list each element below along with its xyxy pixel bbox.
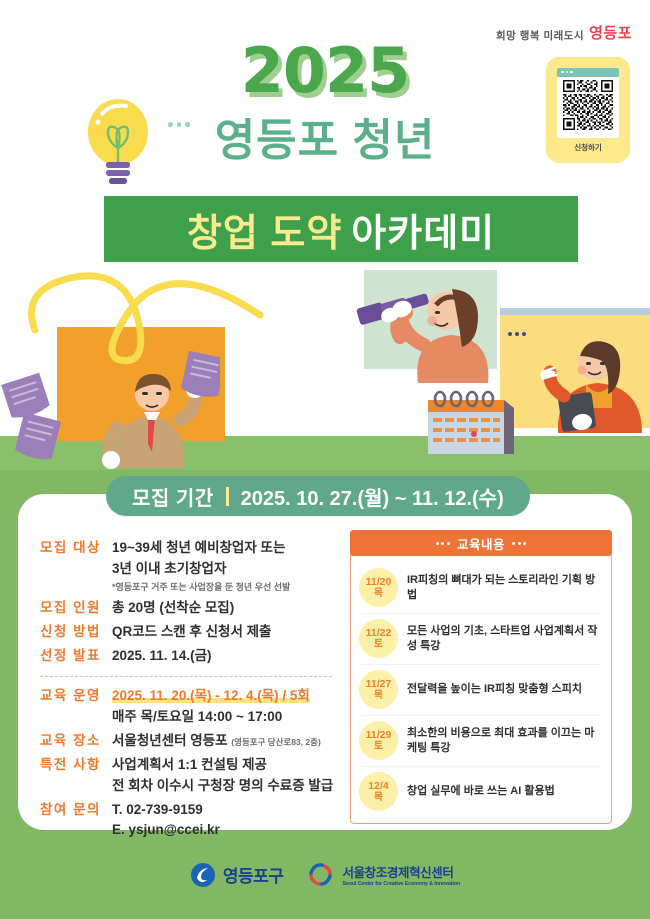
- badge-date: 12/4: [368, 780, 388, 792]
- ccei-pinwheel-icon: [309, 862, 335, 888]
- badge-day: 목: [374, 792, 383, 804]
- info-row-schedule: 교육 운영 2025. 11. 20.(목) - 12. 4.(목) / 5회 …: [40, 686, 340, 728]
- footer-logo-texts: 서울창조경제혁신센터 Seoul Center for Creative Eco…: [342, 862, 460, 887]
- badge-date: 11/27: [366, 678, 392, 690]
- content-card: 모집 기간 2025. 10. 27.(월) ~ 11. 12.(수) 모집 대…: [18, 494, 632, 830]
- curriculum-panel: 교육내용 11/20 목 IR피칭의 뼈대가 되는 스토리라인 기획 방법 11…: [350, 530, 612, 824]
- info-label: 신청 방법: [40, 622, 112, 643]
- info-label: 모집 대상: [40, 538, 112, 595]
- info-label: 특전 사항: [40, 755, 112, 797]
- curriculum-text: 최소한의 비용으로 최대 효과를 이끄는 마케팅 특강: [407, 726, 601, 755]
- info-values: 2025. 11. 14.(금): [112, 646, 340, 667]
- person-with-telescope-illustration: [340, 275, 500, 385]
- footer-logo-name-kr: 서울창조경제혁신센터: [342, 862, 460, 881]
- banner-text-primary: 창업 도약: [187, 202, 342, 257]
- info-label: 교육 운영: [40, 686, 112, 728]
- info-value: 19~39세 청년 예비창업자 또는: [112, 538, 340, 559]
- badge-day: 토: [374, 741, 383, 753]
- info-value: 전 회차 이수시 구청장 명의 수료증 발급: [112, 776, 340, 797]
- recruitment-period-pill: 모집 기간 2025. 10. 27.(월) ~ 11. 12.(수): [106, 476, 530, 516]
- period-label: 모집 기간: [132, 482, 214, 511]
- yeongdeungpo-emblem-icon: [190, 862, 216, 888]
- banner-text-secondary: 아카데미: [351, 202, 495, 257]
- curriculum-text: 전달력을 높이는 IR피칭 맞춤형 스피치: [407, 682, 582, 696]
- info-values: 사업계획서 1:1 컨설팅 제공 전 회차 이수시 구청장 명의 수료증 발급: [112, 755, 340, 797]
- contact-phone: T. 02-739-9159: [112, 800, 340, 821]
- body-section: 모집 기간 2025. 10. 27.(월) ~ 11. 12.(수) 모집 대…: [0, 470, 650, 919]
- badge-day: 목: [374, 690, 383, 702]
- date-badge: 11/20 목: [359, 568, 398, 607]
- date-badge: 12/4 목: [359, 772, 398, 811]
- title-subtitle: 영등포 청년: [0, 118, 650, 164]
- dots-left-icon: [436, 542, 450, 545]
- info-row-benefits: 특전 사항 사업계획서 1:1 컨설팅 제공 전 회차 이수시 구청장 명의 수…: [40, 755, 340, 797]
- info-row-target: 모집 대상 19~39세 청년 예비창업자 또는 3년 이내 초기창업자 *영등…: [40, 538, 340, 595]
- footer-logo-name: 영등포구: [223, 862, 284, 887]
- period-value: 2025. 10. 27.(월) ~ 11. 12.(수): [241, 482, 504, 511]
- badge-day: 목: [374, 588, 383, 600]
- venue-address: (영등포구 당산로83, 2층): [231, 737, 321, 747]
- dots-right-icon: [512, 542, 526, 545]
- footer-logo-name-en: Seoul Center for Creative Economy & Inno…: [342, 881, 460, 887]
- info-value: 사업계획서 1:1 컨설팅 제공: [112, 755, 340, 776]
- info-value: 2025. 11. 14.(금): [112, 646, 340, 667]
- curriculum-header: 교육내용: [350, 530, 612, 556]
- info-row-venue: 교육 장소 서울청년센터 영등포 (영등포구 당산로83, 2층): [40, 731, 340, 752]
- badge-day: 토: [374, 639, 383, 651]
- info-label: 선정 발표: [40, 646, 112, 667]
- info-column: 모집 대상 19~39세 청년 예비창업자 또는 3년 이내 초기창업자 *영등…: [40, 538, 340, 844]
- curriculum-row: 11/22 토 모든 사업의 기초, 스타트업 사업계획서 작성 특강: [351, 613, 611, 664]
- brand-name: 영등포: [589, 22, 632, 43]
- section-divider: [40, 676, 332, 677]
- info-values: 서울청년센터 영등포 (영등포구 당산로83, 2층): [112, 731, 340, 752]
- illustration-strip: [0, 270, 650, 470]
- title-year: 2025: [0, 42, 650, 101]
- info-label: 모집 인원: [40, 598, 112, 619]
- info-values: QR코드 스캔 후 신청서 제출: [112, 622, 340, 643]
- curriculum-text: 창업 실무에 바로 쓰는 AI 활용법: [407, 784, 555, 798]
- period-divider: [226, 487, 229, 506]
- badge-date: 11/22: [366, 627, 392, 639]
- curriculum-row: 11/29 토 최소한의 비용으로 최대 효과를 이끄는 마케팅 특강: [351, 715, 611, 766]
- info-row-announcement: 선정 발표 2025. 11. 14.(금): [40, 646, 340, 667]
- info-value: 서울청년센터 영등포 (영등포구 당산로83, 2층): [112, 731, 340, 752]
- person-with-document-illustration: [80, 350, 220, 470]
- curriculum-text: 모든 사업의 기초, 스타트업 사업계획서 작성 특강: [407, 624, 601, 653]
- info-value: QR코드 스캔 후 신청서 제출: [112, 622, 340, 643]
- info-values: 총 20명 (선착순 모집): [112, 598, 340, 619]
- poster-root: 희망 행복 미래도시 영등포: [0, 0, 650, 919]
- footer-logo-ccei: 서울창조경제혁신센터 Seoul Center for Creative Eco…: [309, 862, 460, 888]
- curriculum-text: IR피칭의 뼈대가 되는 스토리라인 기획 방법: [407, 573, 601, 602]
- curriculum-row: 12/4 목 창업 실무에 바로 쓰는 AI 활용법: [351, 766, 611, 817]
- yeongdeungpo-brand-logo: 희망 행복 미래도시 영등포: [496, 22, 632, 43]
- info-row-apply-method: 신청 방법 QR코드 스캔 후 신청서 제출: [40, 622, 340, 643]
- info-value: 총 20명 (선착순 모집): [112, 598, 340, 619]
- venue-name: 서울청년센터 영등포: [112, 733, 228, 748]
- date-badge: 11/27 목: [359, 670, 398, 709]
- highlighted-date: 2025. 11. 20.(목) - 12. 4.(목) / 5회: [112, 688, 310, 703]
- poster-header: 희망 행복 미래도시 영등포: [0, 0, 650, 270]
- brand-slogan: 희망 행복 미래도시: [496, 28, 584, 43]
- badge-date: 11/20: [366, 576, 392, 588]
- date-badge: 11/22 토: [359, 619, 398, 658]
- info-note: *영등포구 거주 또는 사업장을 둔 청년 우선 선발: [112, 580, 340, 595]
- title-banner: 창업 도약 아카데미: [104, 196, 578, 262]
- info-label: 교육 장소: [40, 731, 112, 752]
- flying-papers-illustration: [0, 365, 80, 465]
- badge-date: 11/29: [366, 729, 392, 741]
- curriculum-title: 교육내용: [457, 534, 505, 553]
- desk-calendar-illustration: [420, 380, 520, 458]
- curriculum-list: 11/20 목 IR피칭의 뼈대가 되는 스토리라인 기획 방법 11/22 토…: [350, 553, 612, 824]
- info-row-headcount: 모집 인원 총 20명 (선착순 모집): [40, 598, 340, 619]
- person-with-tablet-illustration: [520, 330, 650, 435]
- info-values: 2025. 11. 20.(목) - 12. 4.(목) / 5회 매주 목/토…: [112, 686, 340, 728]
- poster-footer: 영등포구 서울창조경제혁신센터 Seoul Center for Creativ…: [0, 830, 650, 919]
- info-value: 3년 이내 초기창업자: [112, 559, 340, 580]
- footer-logo-yeongdeungpo: 영등포구: [190, 862, 284, 888]
- info-value-highlighted: 2025. 11. 20.(목) - 12. 4.(목) / 5회: [112, 686, 340, 707]
- curriculum-row: 11/20 목 IR피칭의 뼈대가 되는 스토리라인 기획 방법: [351, 562, 611, 613]
- info-value: 매주 목/토요일 14:00 ~ 17:00: [112, 707, 340, 728]
- info-values: 19~39세 청년 예비창업자 또는 3년 이내 초기창업자 *영등포구 거주 …: [112, 538, 340, 595]
- date-badge: 11/29 토: [359, 721, 398, 760]
- curriculum-row: 11/27 목 전달력을 높이는 IR피칭 맞춤형 스피치: [351, 664, 611, 715]
